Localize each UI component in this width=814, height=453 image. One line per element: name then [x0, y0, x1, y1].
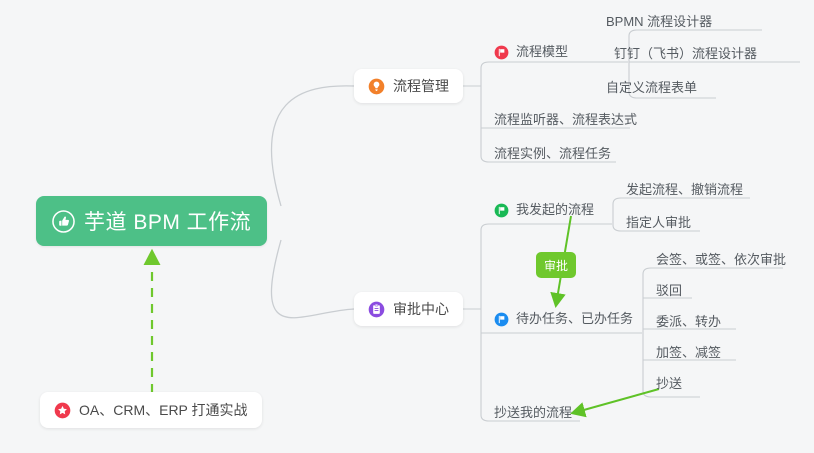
node-label-reject: 驳回 [656, 280, 682, 299]
branch-label-process-management: 流程管理 [393, 76, 449, 96]
annotation-approval-tag: 审批 [536, 252, 576, 278]
branch-label-approval-center: 审批中心 [393, 299, 449, 319]
node-custom-process-form[interactable]: 自定义流程表单 [602, 77, 701, 99]
edge-root-to-process-management [271, 86, 354, 206]
node-process-model[interactable]: 流程模型 [492, 41, 572, 63]
node-add-remove-sign[interactable]: 加签、减签 [652, 342, 725, 364]
node-designated-approver[interactable]: 指定人审批 [622, 212, 695, 234]
lightbulb-circle-icon [368, 78, 385, 95]
node-label-add-remove-sign: 加签、减签 [656, 342, 721, 361]
node-process-instance[interactable]: 流程实例、流程任务 [490, 143, 615, 165]
flag-circle-icon [494, 312, 509, 327]
node-label-process-model: 流程模型 [516, 41, 568, 60]
node-label-countersign: 会签、或签、依次审批 [656, 249, 786, 268]
node-label-dingtalk-feishu-designer: 钉钉（飞书）流程设计器 [614, 43, 757, 62]
node-cc[interactable]: 抄送 [652, 373, 686, 395]
node-dingtalk-feishu-designer[interactable]: 钉钉（飞书）流程设计器 [610, 43, 761, 65]
node-label-my-started-process: 我发起的流程 [516, 199, 594, 218]
thumbs-up-circle-icon [52, 210, 75, 233]
node-label-todo-done-tasks: 待办任务、已办任务 [516, 308, 633, 327]
node-label-process-instance: 流程实例、流程任务 [494, 143, 611, 162]
node-reject[interactable]: 驳回 [652, 280, 686, 302]
node-countersign[interactable]: 会签、或签、依次审批 [652, 249, 790, 271]
arrow-cc-to-ccme [573, 389, 659, 413]
node-label-delegate-transfer: 委派、转办 [656, 311, 721, 330]
clipboard-circle-icon [368, 301, 385, 318]
node-label-designated-approver: 指定人审批 [626, 212, 691, 231]
node-my-started-process[interactable]: 我发起的流程 [492, 199, 598, 221]
node-label-cc: 抄送 [656, 373, 682, 392]
edge-ac-trunk-top-cap [481, 224, 612, 230]
note-label: OA、CRM、ERP 打通实战 [79, 400, 248, 420]
node-cc-to-me-process[interactable]: 抄送我的流程 [490, 402, 576, 424]
node-start-cancel-process[interactable]: 发起流程、撤销流程 [622, 179, 747, 201]
star-circle-icon [54, 402, 71, 419]
node-bpmn-designer[interactable]: BPMN 流程设计器 [602, 11, 716, 33]
flag-circle-icon [494, 45, 509, 60]
node-label-custom-process-form: 自定义流程表单 [606, 77, 697, 96]
node-process-listener[interactable]: 流程监听器、流程表达式 [490, 109, 641, 131]
node-label-bpmn-designer: BPMN 流程设计器 [606, 11, 712, 30]
node-label-cc-to-me-process: 抄送我的流程 [494, 402, 572, 421]
edge-root-to-approval-center [271, 240, 354, 318]
node-label-start-cancel-process: 发起流程、撤销流程 [626, 179, 743, 198]
note-node[interactable]: OA、CRM、ERP 打通实战 [40, 392, 262, 428]
root-node[interactable]: 芋道 BPM 工作流 [36, 196, 267, 246]
branch-node-approval-center[interactable]: 审批中心 [354, 292, 463, 326]
mindmap-canvas: 芋道 BPM 工作流 OA、CRM、ERP 打通实战 流程管理 [0, 0, 814, 453]
node-label-process-listener: 流程监听器、流程表达式 [494, 109, 637, 128]
annotation-approval-tag-label: 审批 [544, 257, 568, 274]
node-delegate-transfer[interactable]: 委派、转办 [652, 311, 725, 333]
branch-node-process-management[interactable]: 流程管理 [354, 69, 463, 103]
root-label: 芋道 BPM 工作流 [84, 206, 251, 236]
node-todo-done-tasks[interactable]: 待办任务、已办任务 [492, 308, 637, 330]
flag-circle-icon [494, 203, 509, 218]
